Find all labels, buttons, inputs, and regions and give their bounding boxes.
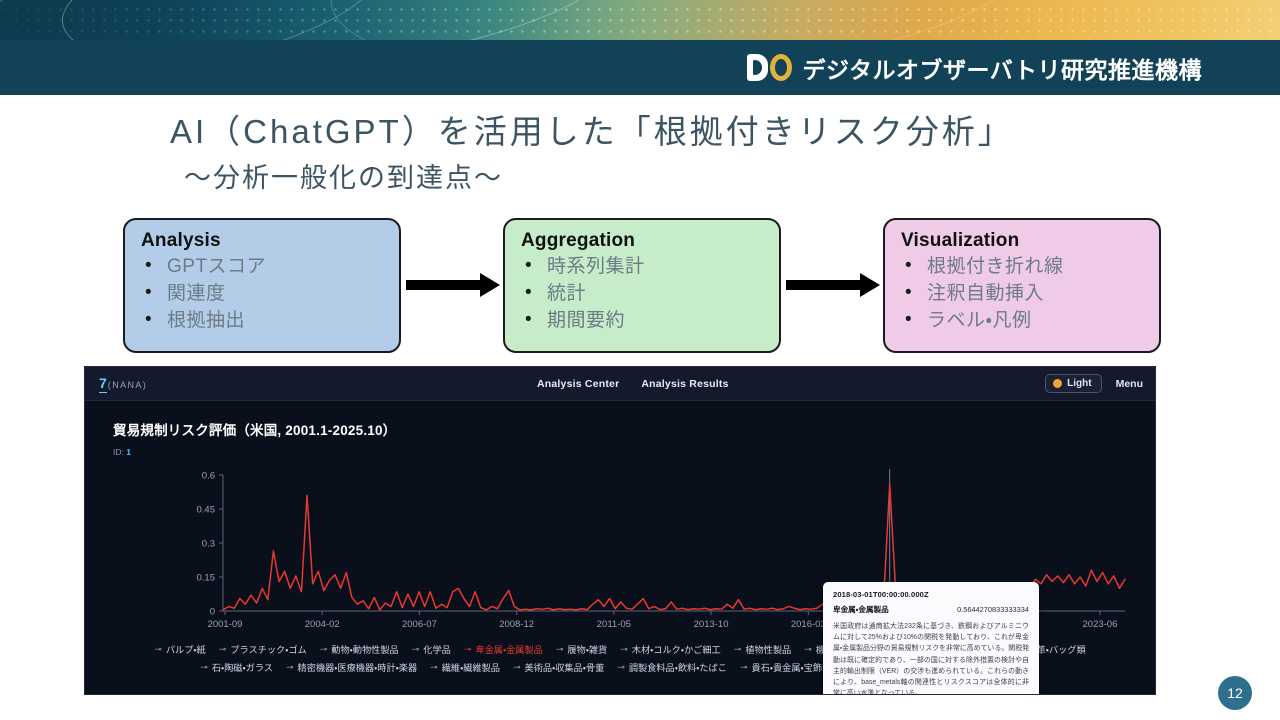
header-bar: デジタルオブザーバトリ研究推進機構	[0, 40, 1280, 95]
legend-marker-icon: ⊸	[620, 645, 628, 654]
svg-text:2011-05: 2011-05	[597, 619, 631, 630]
legend-item[interactable]: ⊸精密機器・医療機器・時計・楽器	[286, 660, 417, 674]
flow-box-title: Analysis	[141, 230, 399, 252]
legend-item-label: 石・陶磁・ガラス	[212, 660, 273, 674]
legend-marker-icon: ⊸	[200, 663, 208, 672]
brand-logo: デジタルオブザーバトリ研究推進機構	[747, 51, 1203, 85]
list-item: 時系列集計	[521, 254, 779, 281]
list-item: 注釈自動挿入	[901, 281, 1159, 308]
legend-marker-icon: ⊸	[320, 645, 328, 654]
flow-box-title: Visualization	[901, 230, 1159, 252]
list-item: 根拠付き折れ線	[901, 254, 1159, 281]
list-item: 関連度	[141, 281, 399, 308]
brand-name: デジタルオブザーバトリ研究推進機構	[803, 51, 1203, 85]
risk-line-chart[interactable]: 00.150.30.450.62001-092004-022006-072008…	[85, 463, 1156, 638]
svg-text:2006-07: 2006-07	[402, 619, 437, 630]
legend-item[interactable]: ⊸プラスチック・ゴム	[219, 642, 307, 656]
svg-text:0.45: 0.45	[197, 505, 216, 516]
app-logo-nana: (NANA)	[108, 380, 147, 390]
legend-item-label: 木材・コルク・かご細工	[632, 642, 721, 656]
chart-tooltip: 2018-03-01T00:00:00.000Z 卑金属・金属製品 0.5644…	[823, 582, 1039, 695]
legend-item[interactable]: ⊸木材・コルク・かご細工	[620, 642, 720, 656]
svg-text:0.3: 0.3	[202, 539, 215, 550]
page-number-badge: 12	[1218, 676, 1252, 710]
legend-marker-icon: ⊸	[286, 663, 294, 672]
arrow-shaft	[406, 280, 482, 290]
svg-text:0.15: 0.15	[197, 573, 216, 584]
legend-item-label: 精密機器・医療機器・時計・楽器	[298, 660, 418, 674]
tooltip-value: 0.5644270833333334	[957, 605, 1029, 614]
chart-id-label: ID:	[113, 447, 124, 457]
svg-text:2023-06: 2023-06	[1083, 619, 1118, 630]
title-main: AI（ChatGPT）を活用した「根拠付きリスク分析」	[170, 112, 1014, 152]
app-navbar: 7 (NANA) Analysis Center Analysis Result…	[85, 367, 1155, 401]
legend-item-label: 履物・雑貨	[567, 642, 607, 656]
legend-item[interactable]: ⊸美術品・収集品・骨董	[513, 660, 604, 674]
app-body: 貿易規制リスク評価（米国, 2001.1-2025.10） ID: 1 00.1…	[85, 401, 1155, 695]
legend-marker-icon: ⊸	[219, 645, 227, 654]
nav-item-analysis-center[interactable]: Analysis Center	[537, 378, 619, 390]
process-flow-diagram: Analysis GPTスコア 関連度 根拠抽出 Aggregation 時系列…	[120, 218, 1165, 358]
legend-marker-icon: ⊸	[412, 645, 420, 654]
svg-text:0: 0	[210, 607, 215, 618]
decorative-top-band	[0, 0, 1280, 40]
svg-text:0.6: 0.6	[202, 471, 215, 482]
app-logo-seven: 7	[99, 375, 107, 393]
legend-marker-icon: ⊸	[734, 645, 742, 654]
do-logo-icon	[747, 54, 792, 81]
svg-text:2013-10: 2013-10	[694, 619, 729, 630]
arrow-head-icon	[860, 273, 880, 297]
legend-item[interactable]: ⊸調製食料品・飲料・たばこ	[617, 660, 727, 674]
legend-item-label: 美術品・収集品・骨董	[525, 660, 605, 674]
svg-text:2004-02: 2004-02	[305, 619, 340, 630]
list-item: 統計	[521, 281, 779, 308]
arrow-shaft	[786, 280, 862, 290]
flow-box-list: 時系列集計 統計 期間要約	[521, 254, 779, 335]
legend-marker-icon: ⊸	[556, 645, 564, 654]
legend-item-label: 調製食料品・飲料・たばこ	[629, 660, 727, 674]
legend-item[interactable]: ⊸植物性製品	[734, 642, 791, 656]
page-title: AI（ChatGPT）を活用した「根拠付きリスク分析」 〜分析一般化の到達点〜	[170, 112, 1014, 195]
app-nav-right: Light Menu	[1045, 374, 1143, 393]
svg-text:2008-12: 2008-12	[499, 619, 534, 630]
arrow-head-icon	[480, 273, 500, 297]
legend-item-label: 動物・動物性製品	[331, 642, 398, 656]
flow-box-list: GPTスコア 関連度 根拠抽出	[141, 254, 399, 335]
flow-box-title: Aggregation	[521, 230, 779, 252]
chart-title: 貿易規制リスク評価（米国, 2001.1-2025.10）	[113, 419, 1155, 439]
svg-text:2016-03: 2016-03	[791, 619, 826, 630]
legend-item-label: プラスチック・ゴム	[230, 642, 306, 656]
legend-item[interactable]: ⊸動物・動物性製品	[320, 642, 399, 656]
legend-item[interactable]: ⊸パルプ・紙	[154, 642, 205, 656]
theme-toggle-button[interactable]: Light	[1045, 374, 1101, 393]
tooltip-value-row: 卑金属・金属製品 0.5644270833333334	[833, 604, 1029, 615]
svg-text:2001-09: 2001-09	[208, 619, 243, 630]
list-item: GPTスコア	[141, 254, 399, 281]
flow-arrow-1	[406, 280, 502, 290]
legend-marker-icon: ⊸	[617, 663, 625, 672]
logo-d-shape	[747, 54, 768, 81]
legend-item[interactable]: ⊸化学品	[412, 642, 451, 656]
legend-item-label: 化学品	[423, 642, 451, 656]
chart-id: ID: 1	[113, 447, 1155, 457]
title-subtitle: 〜分析一般化の到達点〜	[170, 156, 1014, 195]
list-item: 根拠抽出	[141, 308, 399, 335]
legend-item-label: 繊維・繊維製品	[442, 660, 500, 674]
logo-o-shape	[770, 54, 792, 81]
app-screenshot: 7 (NANA) Analysis Center Analysis Result…	[84, 366, 1156, 695]
flow-box-aggregation: Aggregation 時系列集計 統計 期間要約	[503, 218, 781, 353]
list-item: ラベル・凡例	[901, 308, 1159, 335]
legend-marker-icon: ⊸	[430, 663, 438, 672]
legend-item-label: 植物性製品	[745, 642, 791, 656]
slide-root: デジタルオブザーバトリ研究推進機構 AI（ChatGPT）を活用した「根拠付きリ…	[0, 0, 1280, 720]
app-logo[interactable]: 7 (NANA)	[99, 375, 147, 393]
legend-marker-icon: ⊸	[464, 645, 472, 654]
legend-marker-icon: ⊸	[804, 645, 812, 654]
legend-item[interactable]: ⊸履物・雑貨	[556, 642, 607, 656]
nav-item-analysis-results[interactable]: Analysis Results	[641, 378, 728, 390]
list-item: 期間要約	[521, 308, 779, 335]
flow-box-list: 根拠付き折れ線 注釈自動挿入 ラベル・凡例	[901, 254, 1159, 335]
legend-item-label: 卑金属・金属製品	[475, 642, 542, 656]
app-nav-links: Analysis Center Analysis Results	[537, 378, 729, 390]
sun-icon	[1053, 379, 1062, 388]
legend-marker-icon: ⊸	[513, 663, 521, 672]
legend-marker-icon: ⊸	[154, 645, 162, 654]
theme-toggle-label: Light	[1067, 378, 1091, 389]
flow-arrow-2	[786, 280, 882, 290]
chart-id-value: 1	[126, 447, 131, 457]
flow-box-analysis: Analysis GPTスコア 関連度 根拠抽出	[123, 218, 401, 353]
menu-button[interactable]: Menu	[1116, 378, 1143, 390]
legend-item-label: パルプ・紙	[166, 642, 206, 656]
flow-box-visualization: Visualization 根拠付き折れ線 注釈自動挿入 ラベル・凡例	[883, 218, 1161, 353]
tooltip-body-text: 米国政府は通商拡大法232条に基づき、鉄鋼およびアルミニウムに対して25%および…	[833, 621, 1029, 695]
legend-item[interactable]: ⊸卑金属・金属製品	[464, 642, 543, 656]
tooltip-series-name: 卑金属・金属製品	[833, 604, 889, 615]
legend-item[interactable]: ⊸貴石・貴金属・宝飾	[740, 660, 822, 674]
legend-item[interactable]: ⊸繊維・繊維製品	[430, 660, 500, 674]
legend-marker-icon: ⊸	[740, 663, 748, 672]
legend-item[interactable]: ⊸石・陶磁・ガラス	[200, 660, 273, 674]
legend-item-label: 貴石・貴金属・宝飾	[751, 660, 822, 674]
tooltip-timestamp: 2018-03-01T00:00:00.000Z	[833, 590, 1029, 599]
